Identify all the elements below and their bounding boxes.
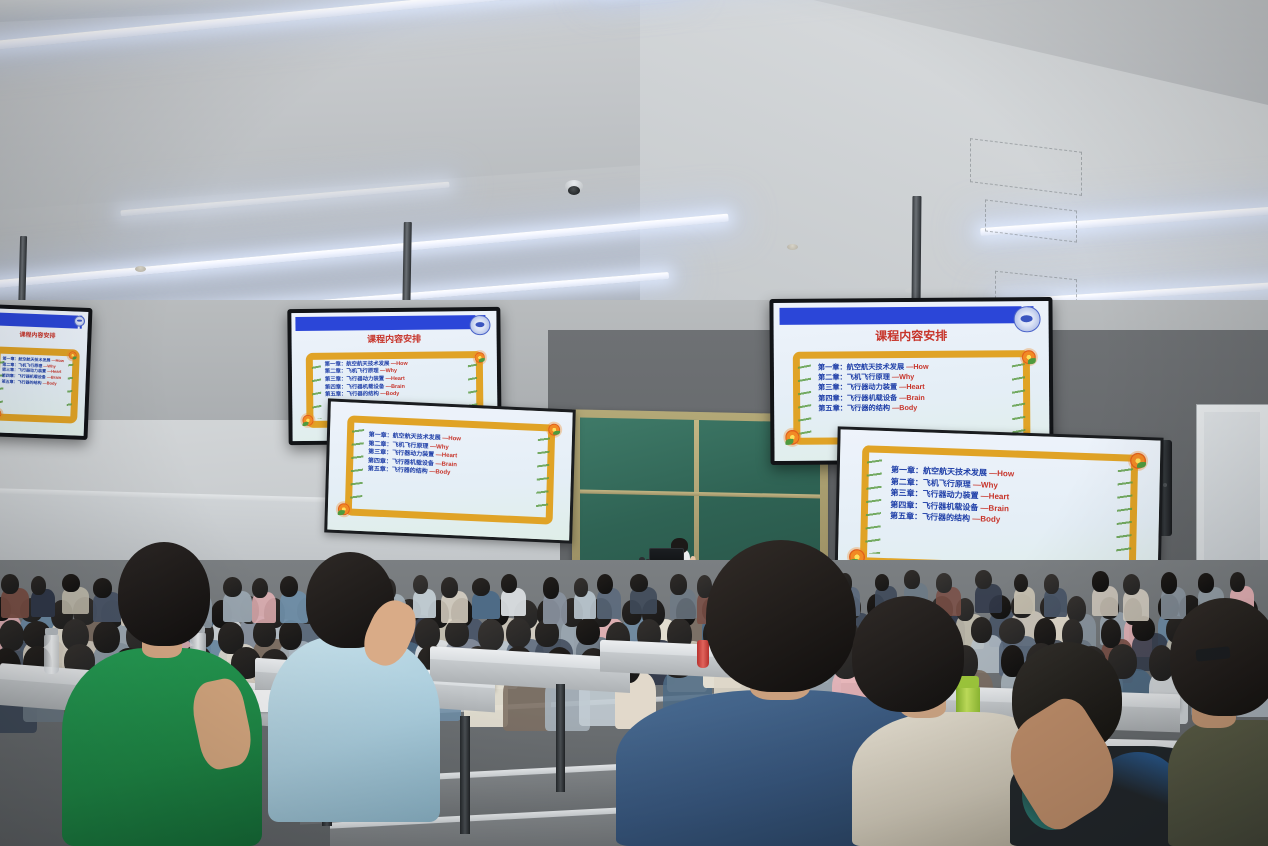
student-head: [936, 573, 952, 592]
leaf-decoration: [785, 439, 793, 445]
slide-chapter-line: 第五章：飞行器的结构 —Body: [818, 402, 1022, 414]
student-head: [62, 574, 80, 593]
slide-center: 第一章：航空航天技术发展 —How第二章：飞机飞行原理 —Why第三章：飞行器动…: [327, 402, 572, 541]
leaf-decoration: [338, 510, 345, 515]
slide-title: 课程内容安排: [774, 326, 1049, 345]
student-head: [1, 574, 19, 594]
slide-chapter-list: 第一章：航空航天技术发展 —How第二章：飞机飞行原理 —Why第三章：飞行器动…: [818, 361, 1022, 414]
window-glass: [1204, 412, 1260, 562]
student-head: [1044, 574, 1059, 593]
student-head: [1092, 571, 1109, 591]
desk-leg: [460, 716, 470, 834]
desk-leg: [556, 684, 565, 792]
red-bottle: [697, 640, 709, 668]
university-seal-icon: [74, 315, 85, 326]
student-head: [670, 574, 687, 595]
student-head: [441, 577, 459, 598]
student-head: [1161, 572, 1178, 593]
slide-header-bar: [295, 315, 476, 331]
student-head: [413, 575, 428, 594]
smoke-detector-icon: [787, 244, 798, 250]
vine-decoration: [798, 362, 812, 435]
student-head: [597, 574, 613, 595]
student-head: [223, 577, 242, 598]
student-head: [478, 619, 504, 651]
student-head: [904, 570, 920, 589]
student-head: [445, 619, 469, 647]
vine-decoration: [350, 426, 364, 505]
bottle-cap: [45, 628, 58, 635]
student-head: [506, 618, 531, 649]
student-head: [999, 618, 1025, 644]
leaf-decoration: [479, 358, 485, 362]
student-head: [574, 578, 589, 597]
leaf-decoration: [1028, 358, 1036, 364]
student-head: [1230, 572, 1245, 592]
student-head: [543, 577, 559, 598]
student-head: [253, 619, 276, 647]
student-head: [280, 576, 298, 597]
lecture-hall-photo: 课程内容安排第一章：航空航天技术发展 —How第二章：飞机飞行原理 —Why第三…: [0, 0, 1268, 846]
vine-decoration: [312, 362, 322, 419]
student-head: [93, 621, 119, 653]
slide-header-bar: [779, 306, 1021, 325]
student-head: [875, 574, 890, 591]
student-head: [1123, 574, 1140, 595]
student-head: [93, 578, 112, 598]
student-head: [501, 574, 517, 593]
slide-chapter-list: 第一章：航空航天技术发展 —How第二章：飞机飞行原理 —Why第三章：飞行器动…: [2, 356, 77, 387]
student-head: [472, 578, 490, 596]
dome-camera-icon: [565, 180, 583, 192]
vine-decoration: [865, 457, 883, 554]
leaf-decoration: [553, 430, 560, 435]
slide-chapter-list: 第一章：航空航天技术发展 —How第二章：飞机飞行原理 —Why第三章：飞行器动…: [368, 431, 548, 482]
student-head: [971, 617, 991, 643]
student-head: [31, 576, 46, 595]
screen-center: 第一章：航空航天技术发展 —How第二章：飞机飞行原理 —Why第三章：飞行器动…: [324, 398, 576, 543]
student-head: [0, 620, 24, 651]
student-head: [1014, 574, 1028, 592]
water-bottle: [44, 634, 59, 674]
tv-far-left: 课程内容安排第一章：航空航天技术发展 —How第二章：飞机飞行原理 —Why第三…: [0, 304, 92, 440]
slide-chapter-list: 第一章：航空航天技术发展 —How第二章：飞机飞行原理 —Why第三章：飞行器动…: [890, 465, 1128, 530]
slide-chapter-list: 第一章：航空航天技术发展 —How第二章：飞机飞行原理 —Why第三章：飞行器动…: [325, 360, 477, 400]
student-head: [279, 620, 302, 650]
student-head: [576, 618, 600, 645]
slide-title: 课程内容安排: [0, 328, 88, 341]
student-head: [1067, 596, 1086, 622]
slide-far-left: 课程内容安排第一章：航空航天技术发展 —How第二章：飞机飞行原理 —Why第三…: [0, 308, 88, 436]
student-head: [1198, 573, 1215, 593]
smoke-detector-icon: [135, 266, 146, 272]
slide-title: 课程内容安排: [292, 331, 497, 346]
leaf-decoration: [1137, 461, 1146, 468]
tv-mount-pole: [912, 196, 922, 306]
student-head: [252, 578, 268, 599]
student-head: [630, 574, 648, 592]
slide-header-bar: [0, 312, 78, 329]
